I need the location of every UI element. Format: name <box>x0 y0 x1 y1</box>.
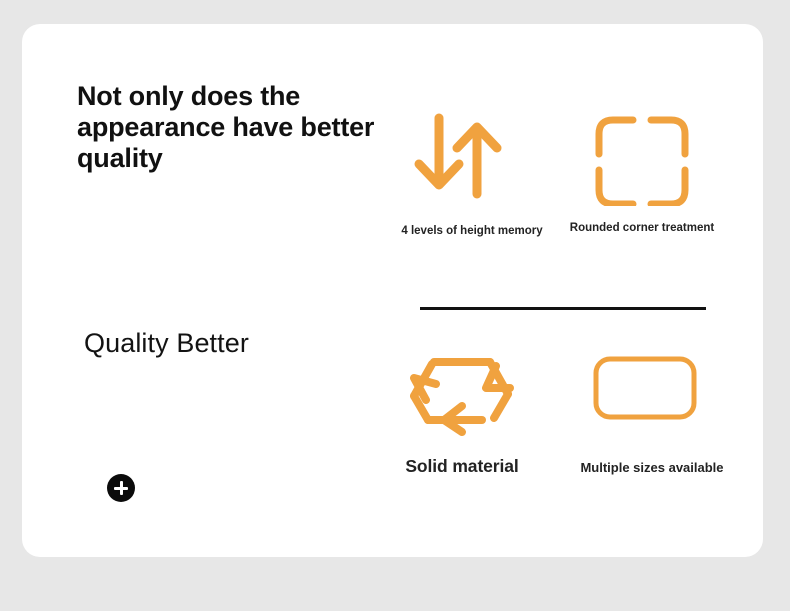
section-subtitle: Quality Better <box>84 327 334 360</box>
page-title: Not only does the appearance have better… <box>77 81 377 174</box>
feature-height-memory: 4 levels of height memory <box>377 106 567 238</box>
feature-caption: 4 levels of height memory <box>377 224 567 238</box>
feature-multiple-sizes: Multiple sizes available <box>562 348 742 476</box>
feature-caption: Multiple sizes available <box>562 460 742 476</box>
feature-caption: Rounded corner treatment <box>567 222 717 235</box>
product-feature-card: Not only does the appearance have better… <box>22 24 763 557</box>
corner-brackets-icon <box>567 106 717 206</box>
feature-solid-material: Solid material <box>374 348 550 476</box>
feature-caption: Solid material <box>374 456 550 476</box>
screenshot-stage: Not only does the appearance have better… <box>0 0 790 611</box>
rounded-rectangle-icon <box>562 348 742 428</box>
up-down-arrows-icon <box>377 106 567 206</box>
recycle-icon <box>374 348 550 436</box>
plus-icon-button[interactable] <box>107 474 135 502</box>
section-divider <box>420 307 706 310</box>
feature-rounded-corner: Rounded corner treatment <box>567 106 717 235</box>
